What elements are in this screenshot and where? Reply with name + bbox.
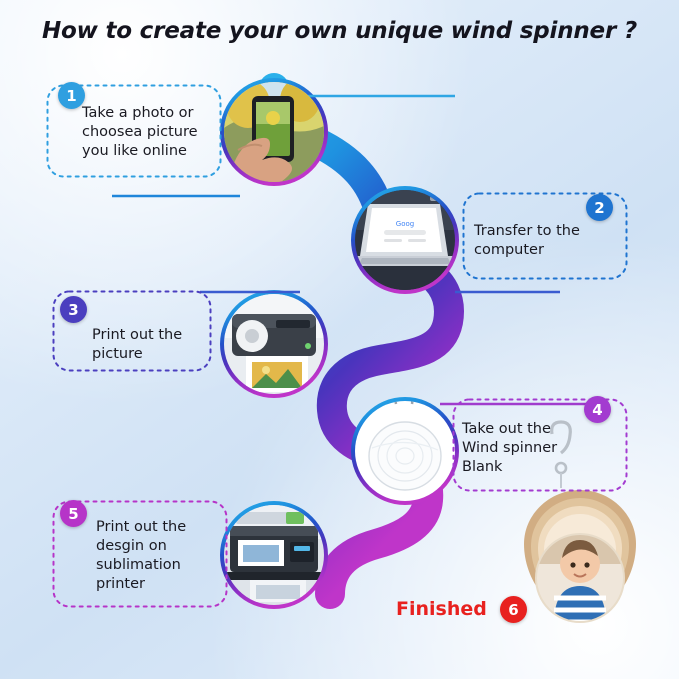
blank-wind-spinner-disc bbox=[355, 392, 455, 501]
step-5-number-badge: 5 bbox=[60, 500, 87, 527]
step-2-caption: Transfer to the computer bbox=[474, 222, 624, 260]
step-6-number-badge: 6 bbox=[500, 596, 527, 623]
step-1-number-badge: 1 bbox=[58, 82, 85, 109]
step-2-number-badge: 2 bbox=[586, 194, 613, 221]
step-5-caption: Print out the desgin on sublimation prin… bbox=[96, 518, 222, 595]
step-1-caption: Take a photo or choosea picture you like… bbox=[82, 104, 222, 161]
step-3-caption: Print out the picture bbox=[92, 326, 222, 364]
svg-text:Goog: Goog bbox=[396, 220, 414, 228]
infographic-stage: Goog bbox=[0, 0, 679, 679]
sublimation-printer-photo bbox=[224, 505, 324, 605]
printer-printing-photo bbox=[224, 294, 324, 394]
step-4-caption: Take out the Wind spinner Blank bbox=[462, 420, 592, 477]
page-title: How to create your own unique wind spinn… bbox=[0, 18, 679, 44]
step-3-number-badge: 3 bbox=[60, 296, 87, 323]
finished-label: Finished bbox=[396, 598, 487, 620]
step-4-number-badge: 4 bbox=[584, 396, 611, 423]
